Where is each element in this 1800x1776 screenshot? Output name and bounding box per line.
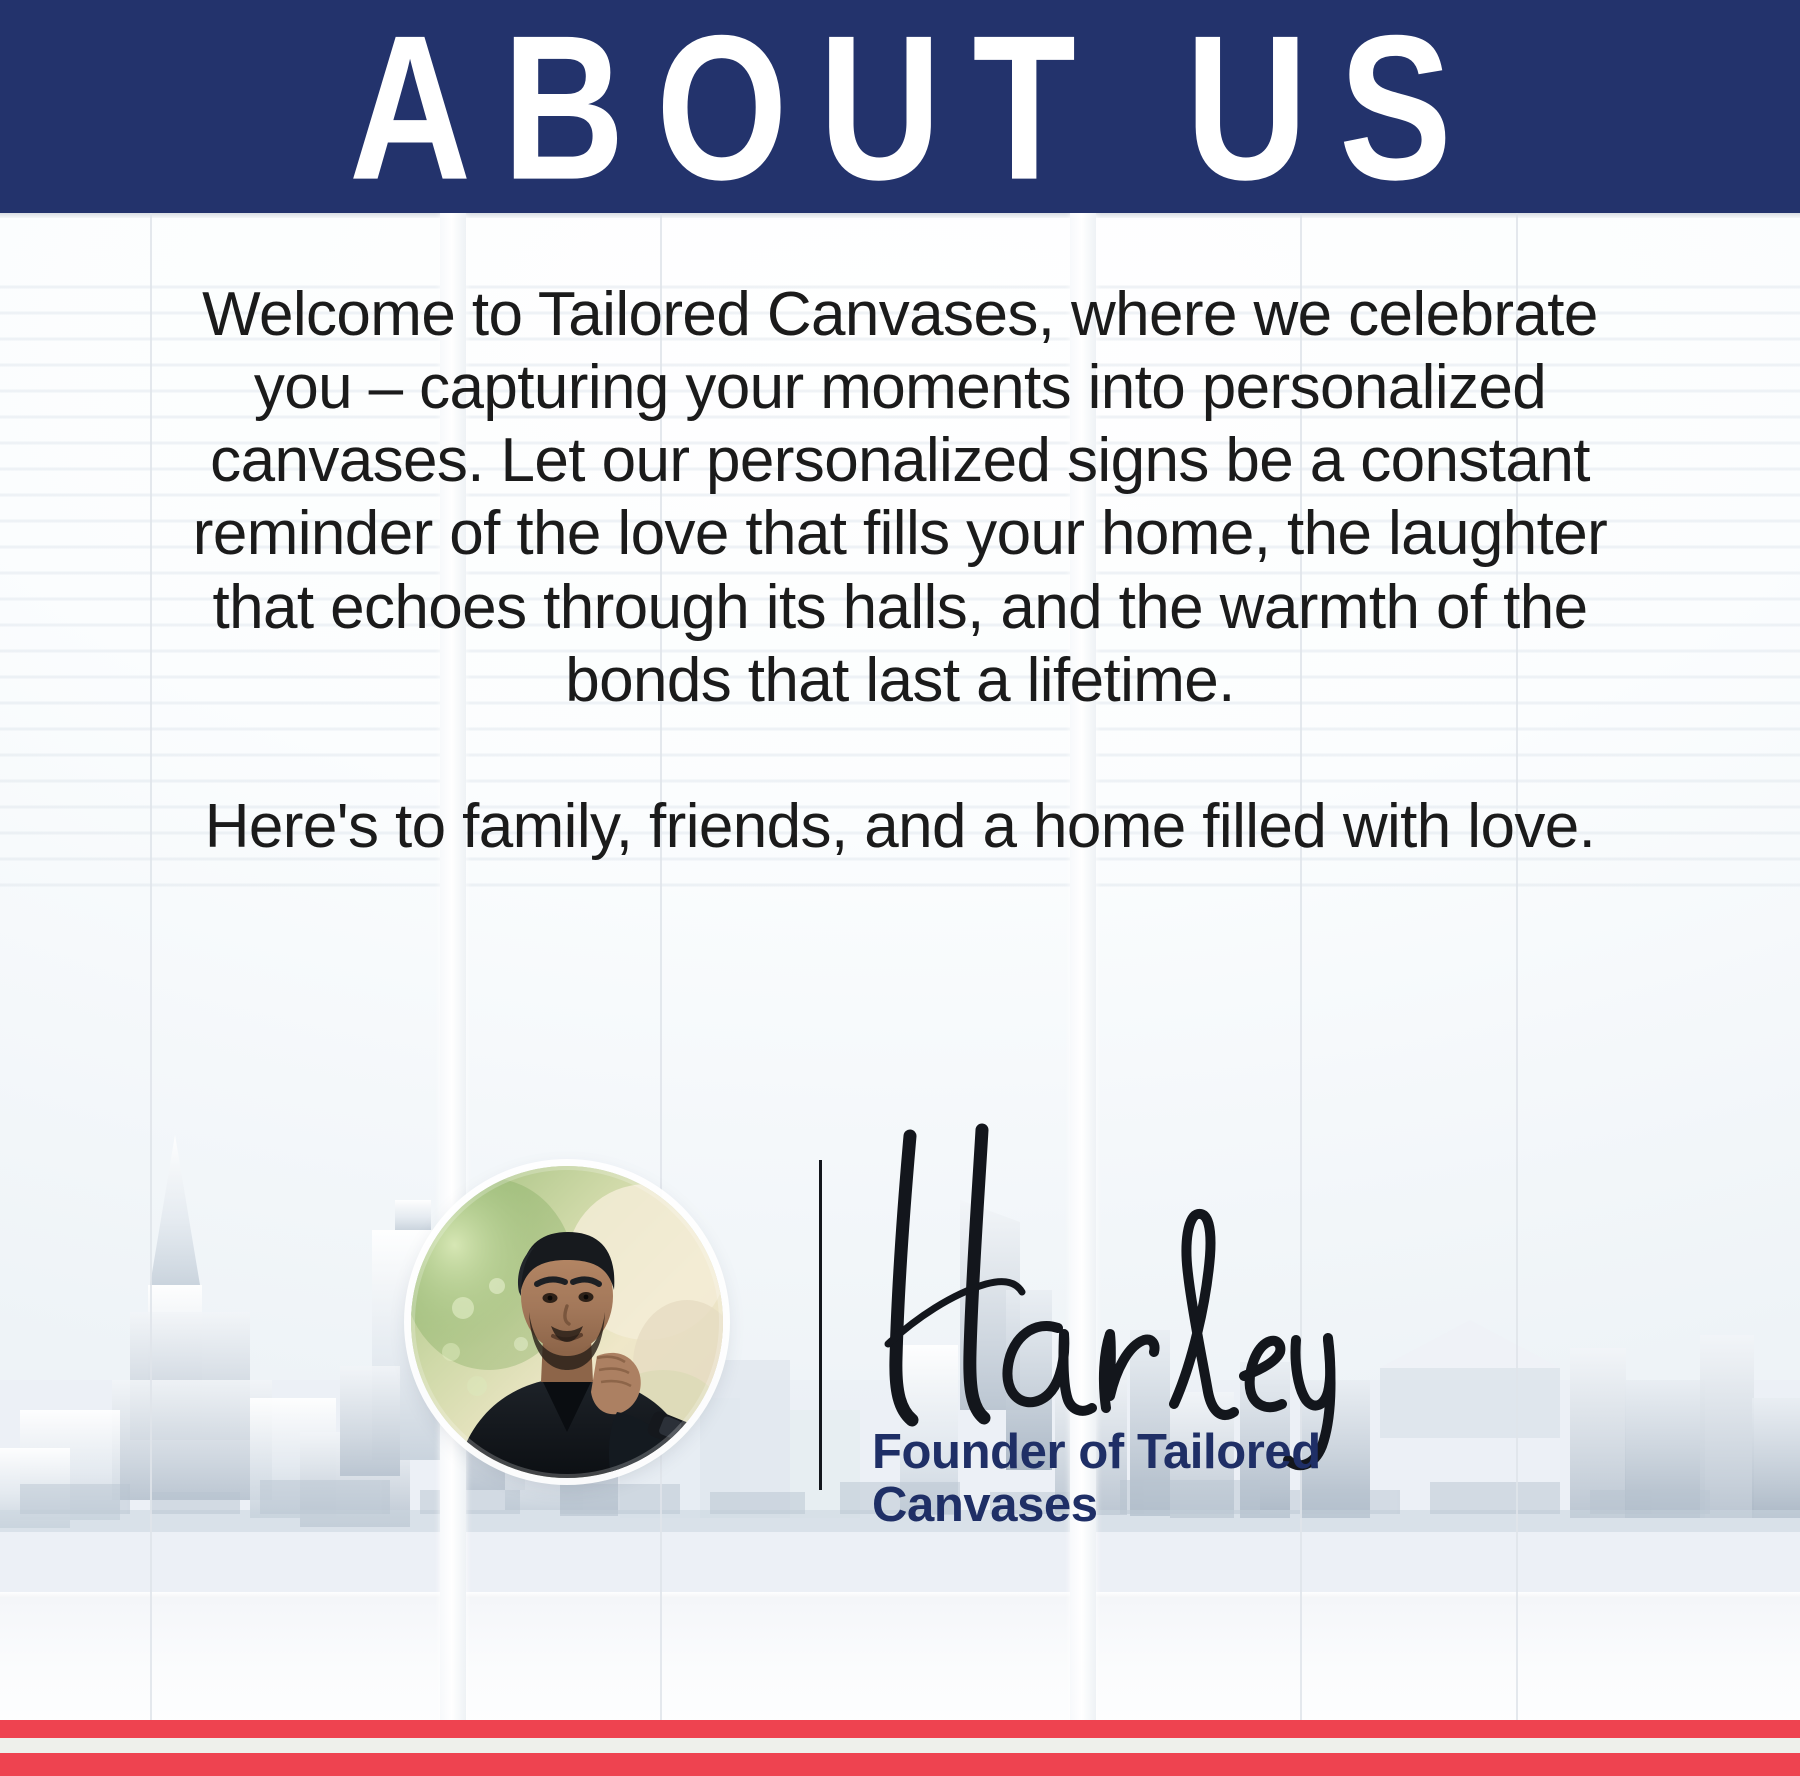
founder-role-line-1: Founder of Tailored <box>872 1425 1321 1479</box>
about-paragraph-1: Welcome to Tailored Canvases, where we c… <box>190 278 1610 717</box>
avatar <box>411 1166 723 1478</box>
founder-role-line-2: Canvases <box>872 1478 1098 1532</box>
founder-block: Founder of Tailored Canvases <box>0 1130 1800 1600</box>
about-copy: Welcome to Tailored Canvases, where we c… <box>190 278 1610 863</box>
founder-role: Founder of Tailored Canvases <box>872 1426 1492 1532</box>
footer-stripe-gap <box>0 1738 1800 1753</box>
signature-divider <box>819 1160 822 1490</box>
footer-stripe-upper <box>0 1720 1800 1738</box>
about-us-poster: ABOUT US Welcome to Tailored Canvases, w… <box>0 0 1800 1776</box>
footer-stripe-lower <box>0 1753 1800 1776</box>
page-title: ABOUT US <box>317 3 1483 209</box>
about-paragraph-2: Here's to family, friends, and a home fi… <box>190 790 1610 863</box>
founder-signature <box>852 1108 1412 1468</box>
header-band: ABOUT US <box>0 0 1800 213</box>
